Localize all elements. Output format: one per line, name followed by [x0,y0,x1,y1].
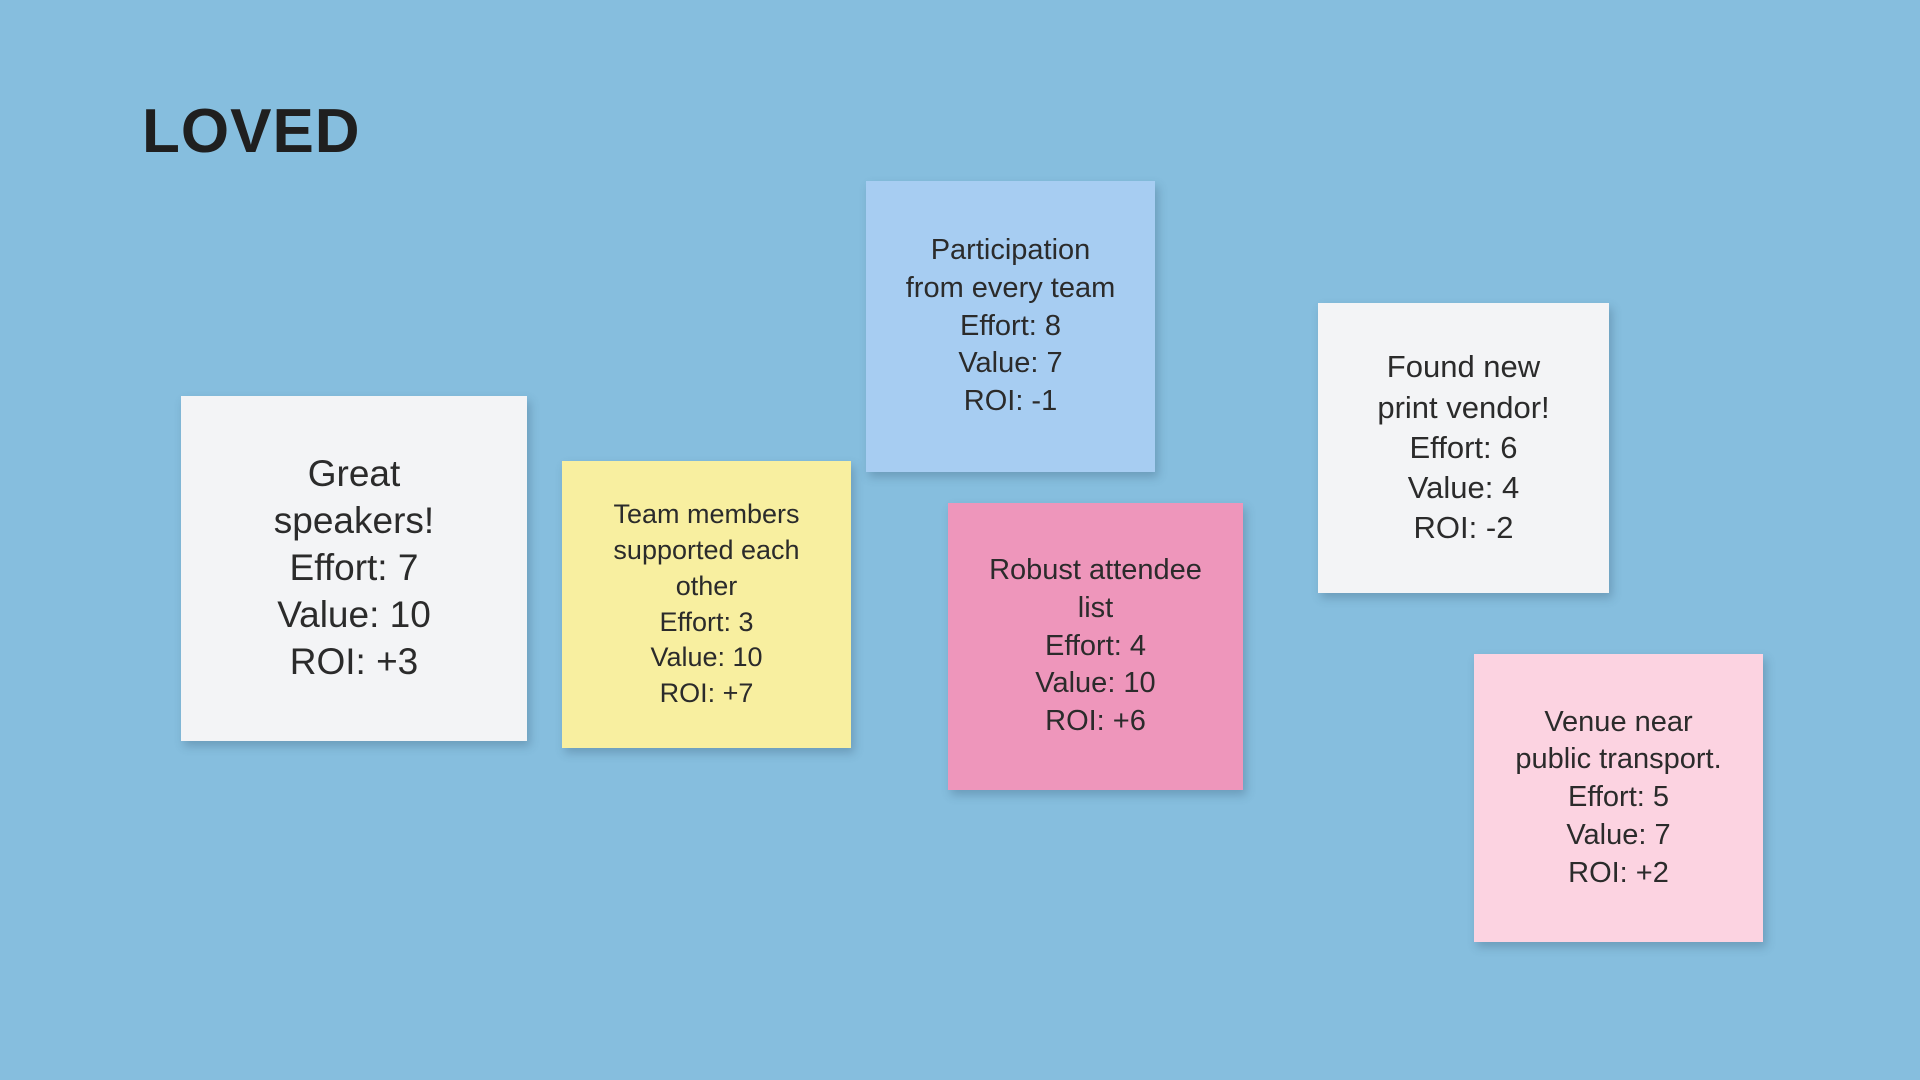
sticky-note-title-line: public transport. [1486,741,1751,779]
sticky-note-title-line: Great [193,451,515,498]
sticky-note-roi: ROI: +3 [193,639,515,686]
sticky-note-roi: ROI: +7 [574,676,839,712]
sticky-note-effort: Effort: 5 [1486,779,1751,817]
sticky-note-effort: Effort: 8 [878,308,1143,346]
sticky-note-title-line: supported each [574,533,839,569]
sticky-note-roi: ROI: +2 [1486,855,1751,893]
sticky-note-title-line: list [960,590,1231,628]
sticky-note-effort: Effort: 6 [1330,428,1597,468]
sticky-note-roi: ROI: -2 [1330,508,1597,548]
sticky-note-title-line: Venue near [1486,704,1751,742]
sticky-note-value: Value: 7 [1486,817,1751,855]
sticky-note-title-line: print vendor! [1330,388,1597,428]
sticky-note-print-vendor[interactable]: Found new print vendor! Effort: 6 Value:… [1318,303,1609,593]
sticky-note-value: Value: 10 [193,592,515,639]
sticky-note-effort: Effort: 4 [960,628,1231,666]
sticky-note-team-members[interactable]: Team members supported each other Effort… [562,461,851,748]
sticky-note-title-line: other [574,569,839,605]
sticky-note-participation[interactable]: Participation from every team Effort: 8 … [866,181,1155,472]
retrospective-board: LOVED Great speakers! Effort: 7 Value: 1… [0,0,1920,1080]
sticky-note-title-line: Participation [878,232,1143,270]
sticky-note-title-line: speakers! [193,498,515,545]
sticky-note-title-line: from every team [878,270,1143,308]
sticky-note-venue[interactable]: Venue near public transport. Effort: 5 V… [1474,654,1763,942]
sticky-note-robust-attendee-list[interactable]: Robust attendee list Effort: 4 Value: 10… [948,503,1243,790]
sticky-note-title-line: Found new [1330,347,1597,387]
sticky-note-title-line: Robust attendee [960,552,1231,590]
sticky-note-value: Value: 7 [878,345,1143,383]
sticky-note-great-speakers[interactable]: Great speakers! Effort: 7 Value: 10 ROI:… [181,396,527,741]
sticky-note-effort: Effort: 3 [574,605,839,641]
sticky-note-title-line: Team members [574,497,839,533]
sticky-note-value: Value: 10 [574,640,839,676]
sticky-note-value: Value: 10 [960,665,1231,703]
page-title: LOVED [142,101,361,163]
sticky-note-roi: ROI: -1 [878,383,1143,421]
sticky-note-effort: Effort: 7 [193,545,515,592]
sticky-note-roi: ROI: +6 [960,703,1231,741]
sticky-note-value: Value: 4 [1330,468,1597,508]
